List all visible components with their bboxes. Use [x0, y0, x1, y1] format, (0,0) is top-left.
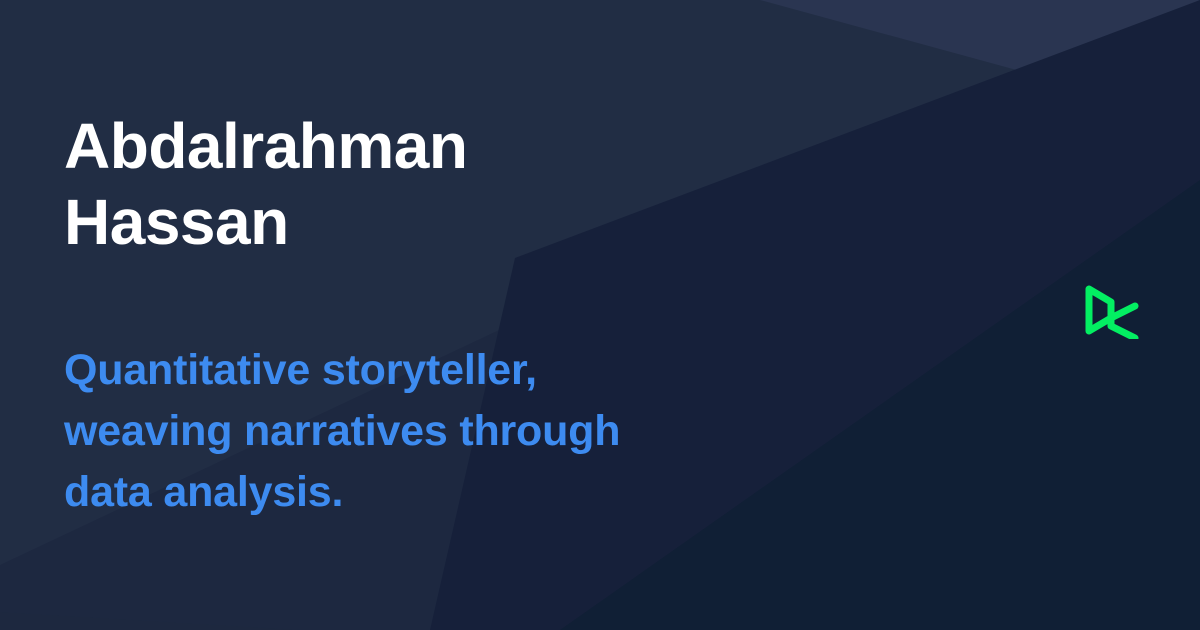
profile-name: Abdalrahman Hassan	[64, 108, 467, 260]
datacamp-logo-icon	[1085, 285, 1139, 339]
logo-c-arm	[1111, 306, 1135, 338]
profile-tagline: Quantitative storyteller, weaving narrat…	[64, 340, 764, 523]
profile-card: Abdalrahman Hassan Quantitative storytel…	[0, 0, 1200, 630]
datacamp-logo-glyph	[1085, 285, 1139, 339]
card-content: Abdalrahman Hassan Quantitative storytel…	[64, 0, 824, 630]
